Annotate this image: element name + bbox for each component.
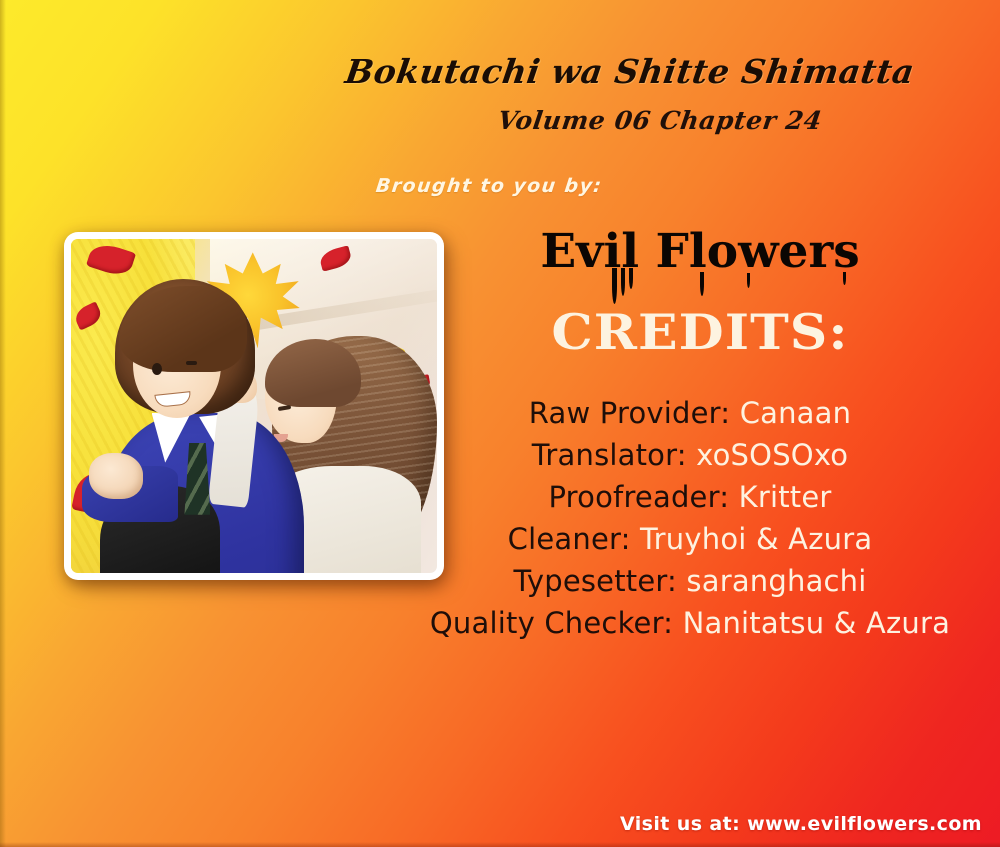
boy-eye-left — [152, 363, 162, 375]
credit-role: Proofreader: — [548, 480, 729, 514]
credit-role: Cleaner: — [508, 522, 631, 556]
boy-eye-right-winking — [186, 361, 197, 365]
group-logo: Evil Flowers — [450, 228, 950, 275]
credit-row: Typesetter: saranghachi — [400, 560, 980, 602]
credit-row: Quality Checker: Nanitatsu & Azura — [400, 602, 980, 644]
boy-hand — [89, 453, 143, 499]
credit-row: Cleaner: Truyhoi & Azura — [400, 518, 980, 560]
credit-row: Proofreader: Kritter — [400, 476, 980, 518]
page-title: Bokutachi wa Shitte Shimatta — [297, 52, 962, 91]
credit-role: Raw Provider: — [529, 396, 730, 430]
brought-to-you-by-label: Brought to you by: — [375, 175, 604, 197]
credit-row: Raw Provider: Canaan — [400, 392, 980, 434]
credits-heading: CREDITS: — [435, 303, 965, 361]
credit-name: saranghachi — [686, 564, 866, 598]
cover-illustration — [71, 239, 437, 573]
credit-name: Nanitatsu & Azura — [683, 606, 951, 640]
credit-name: xoSOSOxo — [696, 438, 848, 472]
credit-name: Kritter — [739, 480, 832, 514]
credits-list: Raw Provider: Canaan Translator: xoSOSOx… — [400, 392, 980, 644]
credit-role: Quality Checker: — [430, 606, 673, 640]
credits-page: Bokutachi wa Shitte Shimatta Volume 06 C… — [0, 0, 1000, 847]
website-url[interactable]: Visit us at: www.evilflowers.com — [620, 813, 982, 835]
credit-name: Canaan — [740, 396, 852, 430]
credit-role: Translator: — [532, 438, 687, 472]
cover-thumbnail — [64, 232, 444, 580]
credit-name: Truyhoi & Azura — [640, 522, 872, 556]
chapter-subtitle: Volume 06 Chapter 24 — [358, 106, 962, 135]
credit-role: Typesetter: — [513, 564, 677, 598]
credit-row: Translator: xoSOSOxo — [400, 434, 980, 476]
